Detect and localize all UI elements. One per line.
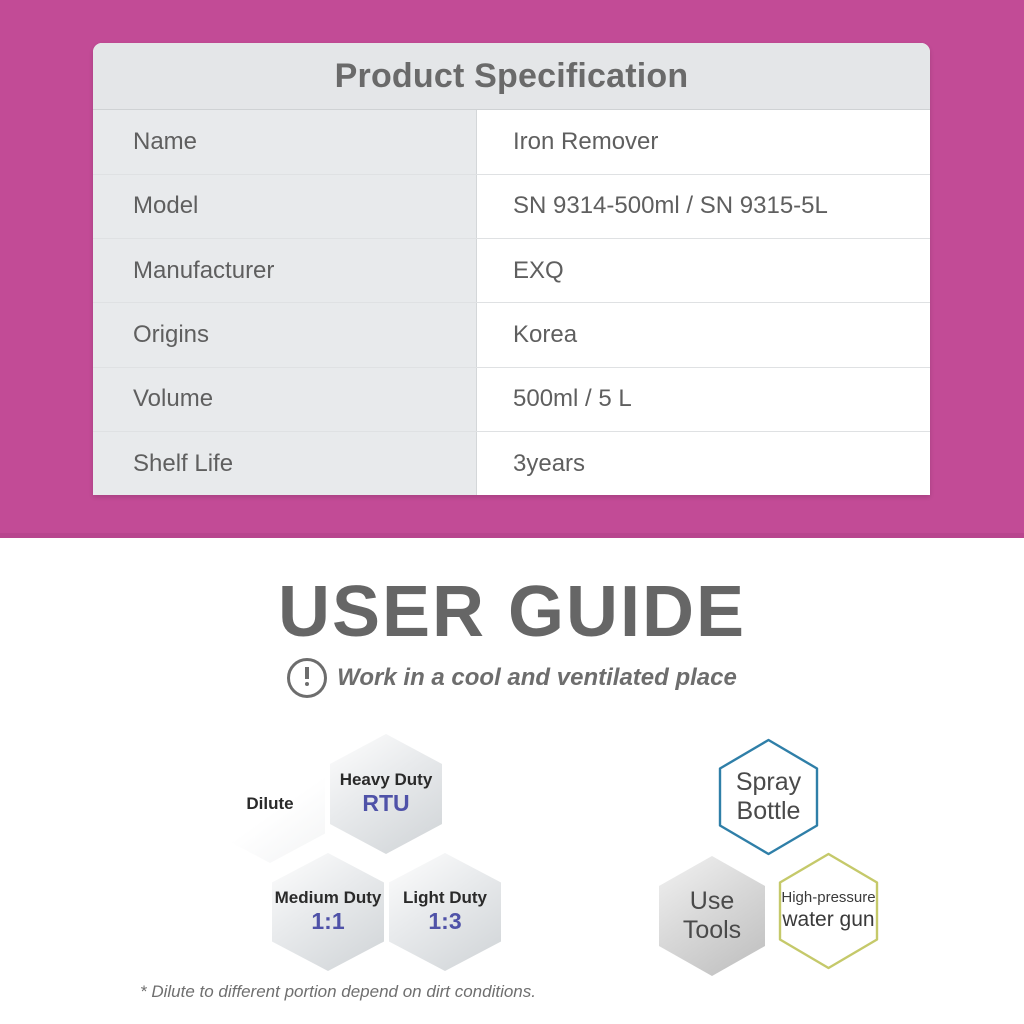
table-row: Shelf Life 3years — [93, 431, 930, 495]
hex-water-gun-line1: High-pressure — [781, 889, 875, 907]
hex-medium-duty: Medium Duty 1:1 — [272, 853, 384, 971]
table-row: Name Iron Remover — [93, 110, 930, 174]
table-row: Model SN 9314-500ml / SN 9315-5L — [93, 174, 930, 238]
hex-water-gun-line2: water gun — [782, 907, 874, 933]
user-guide-subtitle-row: Work in a cool and ventilated place — [0, 658, 1024, 698]
hex-spray-bottle-line1: Spray — [736, 768, 801, 798]
spec-value: SN 9314-500ml / SN 9315-5L — [477, 174, 931, 238]
user-guide-section: USER GUIDE Work in a cool and ventilated… — [0, 538, 1024, 1024]
hex-heavy-duty-label: Heavy Duty — [340, 770, 433, 790]
hex-spray-bottle: Spray Bottle — [717, 738, 820, 856]
product-specification-card: Product Specification Name Iron Remover … — [93, 43, 930, 495]
hex-light-duty-label: Light Duty — [403, 888, 487, 908]
hex-heavy-duty: Heavy Duty RTU — [330, 734, 442, 854]
spec-key: Volume — [93, 367, 477, 431]
spec-key: Shelf Life — [93, 431, 477, 495]
hex-light-duty: Light Duty 1:3 — [389, 853, 501, 971]
hex-use-tools-line1: Use — [690, 887, 734, 917]
table-row: Manufacturer EXQ — [93, 239, 930, 303]
spec-value: Iron Remover — [477, 110, 931, 174]
spec-key: Name — [93, 110, 477, 174]
specification-table: Name Iron Remover Model SN 9314-500ml / … — [93, 110, 930, 495]
user-guide-title: USER GUIDE — [0, 576, 1024, 648]
hex-use-tools-line2: Tools — [683, 916, 741, 946]
hex-medium-duty-label: Medium Duty — [275, 888, 382, 908]
spec-key: Manufacturer — [93, 239, 477, 303]
hex-spray-bottle-line2: Bottle — [737, 797, 801, 827]
spec-key: Origins — [93, 303, 477, 367]
spec-key: Model — [93, 174, 477, 238]
page-title: Product Specification — [93, 43, 930, 110]
hex-high-pressure-water-gun: High-pressure water gun — [777, 852, 880, 970]
hex-light-duty-ratio: 1:3 — [428, 908, 461, 936]
exclamation-circle-icon — [287, 658, 327, 698]
table-row: Origins Korea — [93, 303, 930, 367]
hex-dilute: Dilute — [215, 745, 325, 863]
hex-heavy-duty-ratio: RTU — [362, 790, 409, 818]
spec-value: 500ml / 5 L — [477, 367, 931, 431]
spec-value: Korea — [477, 303, 931, 367]
table-row: Volume 500ml / 5 L — [93, 367, 930, 431]
spec-value: EXQ — [477, 239, 931, 303]
user-guide-subtitle: Work in a cool and ventilated place — [337, 664, 737, 692]
hex-use-tools: Use Tools — [659, 856, 765, 976]
dilution-footnote: * Dilute to different portion depend on … — [140, 982, 536, 1002]
hex-medium-duty-ratio: 1:1 — [311, 908, 344, 936]
hex-dilute-label: Dilute — [246, 794, 293, 814]
spec-value: 3years — [477, 431, 931, 495]
